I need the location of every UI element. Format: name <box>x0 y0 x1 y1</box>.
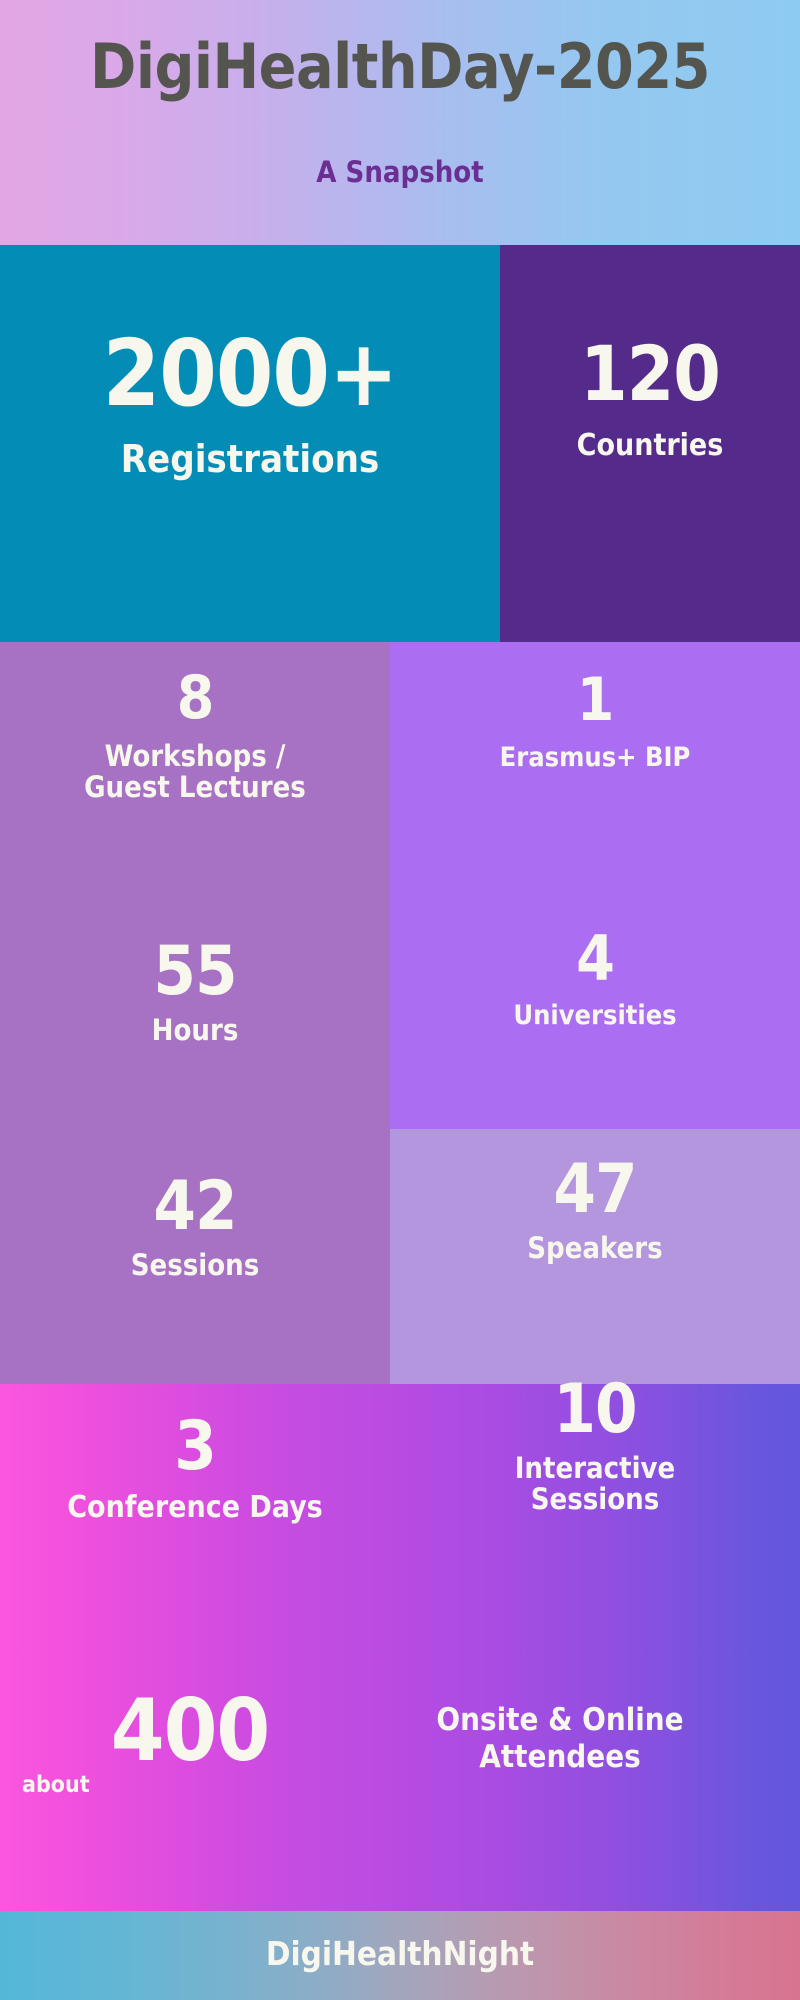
stat-attendees-label-line2: Attendees <box>479 1739 640 1775</box>
stat-attendees-value: 400 <box>60 1688 320 1774</box>
stat-universities-value: 4 <box>390 930 800 989</box>
stat-interactive-label-line2: Sessions <box>531 1482 660 1516</box>
stat-hours-value: 55 <box>0 940 390 1005</box>
header-banner: DigiHealthDay-2025 A Snapshot <box>0 0 800 245</box>
stat-sessions-value: 42 <box>0 1175 390 1240</box>
stat-interactive-label-line1: Interactive <box>515 1451 676 1485</box>
stat-universities: 4 Universities <box>390 930 800 1030</box>
stat-registrations-label: Registrations <box>0 439 500 480</box>
stat-attendees-label: Onsite & Online Attendees <box>330 1702 790 1776</box>
stat-sessions: 42 Sessions <box>0 1175 390 1281</box>
infographic-page: DigiHealthDay-2025 A Snapshot 2000+ Regi… <box>0 0 800 2000</box>
stat-countries-value: 120 <box>500 338 800 410</box>
stat-erasmus-bip-label: Erasmus+ BIP <box>390 743 800 772</box>
stat-sessions-label: Sessions <box>0 1250 390 1281</box>
stat-erasmus-bip: 1 Erasmus+ BIP <box>390 672 800 772</box>
footer-text: DigiHealthNight <box>0 1934 800 1973</box>
stat-speakers: 47 Speakers <box>390 1158 800 1264</box>
page-title: DigiHealthDay-2025 <box>0 30 800 103</box>
stat-workshops-label-line1: Workshops / <box>105 739 286 773</box>
stat-attendees-label-line1: Onsite & Online <box>436 1702 683 1738</box>
stat-workshops-label-line2: Guest Lectures <box>84 770 306 804</box>
stat-conference-days-label: Conference Days <box>0 1492 390 1524</box>
stat-countries: 120 Countries <box>500 338 800 463</box>
stat-workshops: 8 Workshops / Guest Lectures <box>0 670 390 804</box>
stat-countries-label: Countries <box>500 430 800 462</box>
stat-erasmus-bip-value: 1 <box>390 672 800 729</box>
stat-registrations-value: 2000+ <box>0 330 500 417</box>
stat-interactive-sessions: 10 Interactive Sessions <box>390 1378 800 1515</box>
stat-hours-label: Hours <box>0 1015 390 1046</box>
stat-attendees: 400 about Onsite & Online Attendees <box>0 1700 800 1830</box>
stat-universities-label: Universities <box>390 1001 800 1030</box>
stat-attendees-prefix: about <box>22 1772 132 1798</box>
stat-registrations: 2000+ Registrations <box>0 330 500 480</box>
stat-interactive-sessions-label: Interactive Sessions <box>390 1453 800 1516</box>
page-subtitle: A Snapshot <box>0 155 800 189</box>
stat-workshops-value: 8 <box>0 670 390 727</box>
stat-workshops-label: Workshops / Guest Lectures <box>0 741 390 804</box>
stat-conference-days-value: 3 <box>0 1415 390 1480</box>
stat-speakers-value: 47 <box>390 1158 800 1223</box>
stat-speakers-label: Speakers <box>390 1233 800 1264</box>
stat-conference-days: 3 Conference Days <box>0 1415 390 1524</box>
stat-hours: 55 Hours <box>0 940 390 1046</box>
stat-interactive-sessions-value: 10 <box>390 1378 800 1443</box>
